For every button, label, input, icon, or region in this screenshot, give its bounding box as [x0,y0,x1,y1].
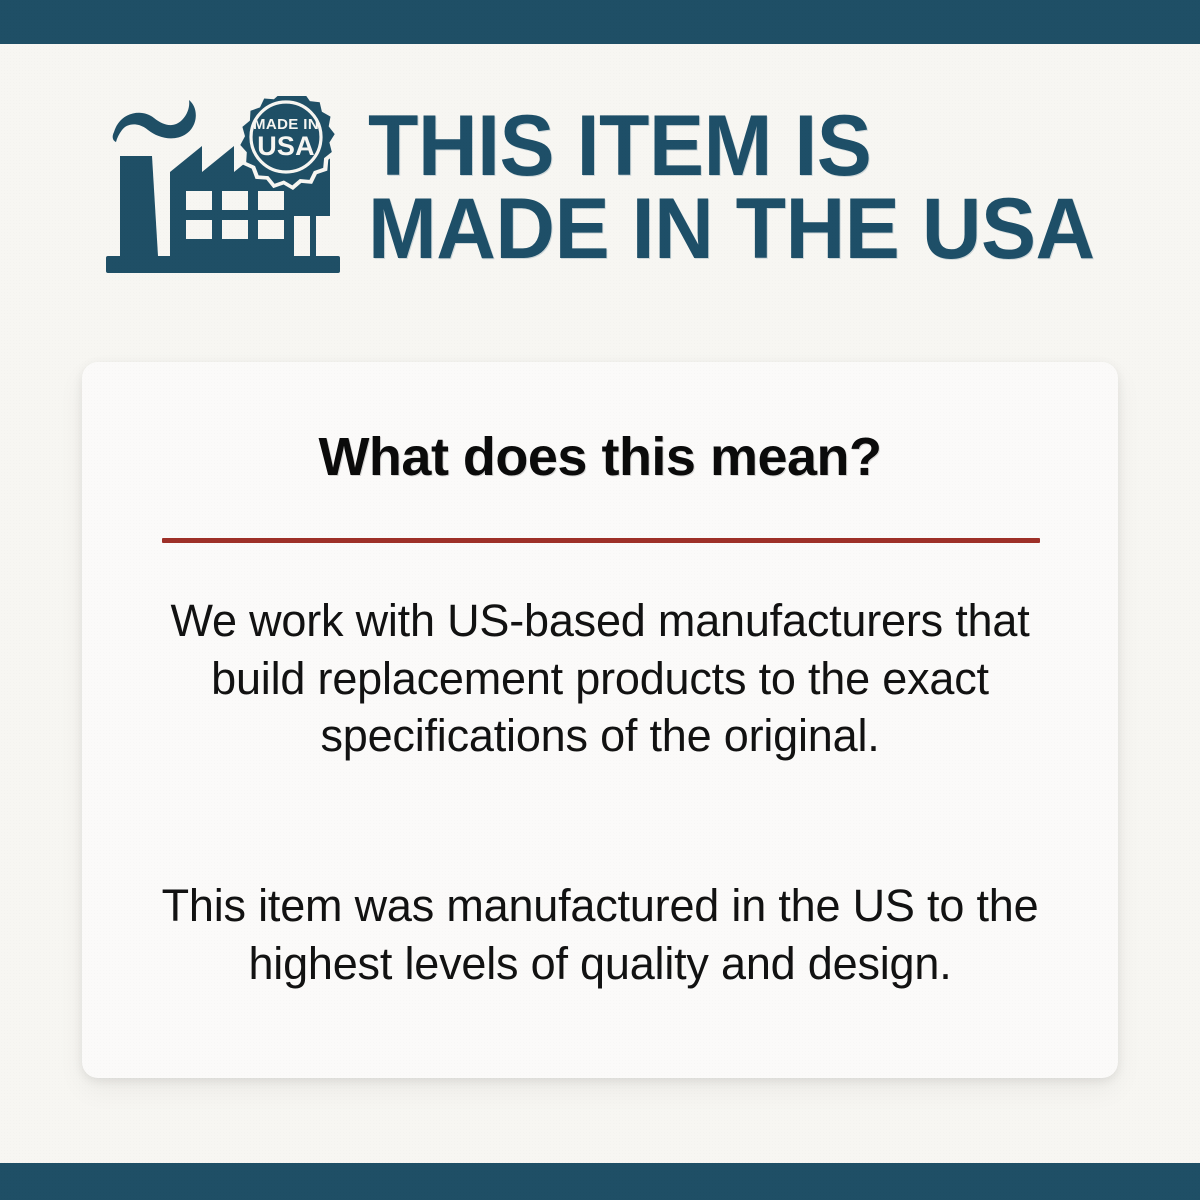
factory-with-made-in-usa-badge-icon: MADE IN USA [98,96,348,281]
page-root: MADE IN USA THIS ITEM IS MADE IN THE USA… [0,0,1200,1200]
card-paragraph-1: We work with US-based manufacturers that… [150,592,1050,765]
header: MADE IN USA THIS ITEM IS MADE IN THE USA [0,88,1200,288]
info-card: What does this mean? We work with US-bas… [82,362,1118,1078]
bottom-accent-bar [0,1163,1200,1200]
card-heading: What does this mean? [82,426,1118,488]
heading-divider [162,538,1040,543]
title-line-1: THIS ITEM IS [368,105,1095,188]
card-paragraph-2: This item was manufactured in the US to … [150,877,1050,992]
badge-usa-text: USA [257,131,315,161]
page-title: THIS ITEM IS MADE IN THE USA [368,105,1125,272]
top-accent-bar [0,0,1200,44]
title-line-2: MADE IN THE USA [368,188,1095,271]
